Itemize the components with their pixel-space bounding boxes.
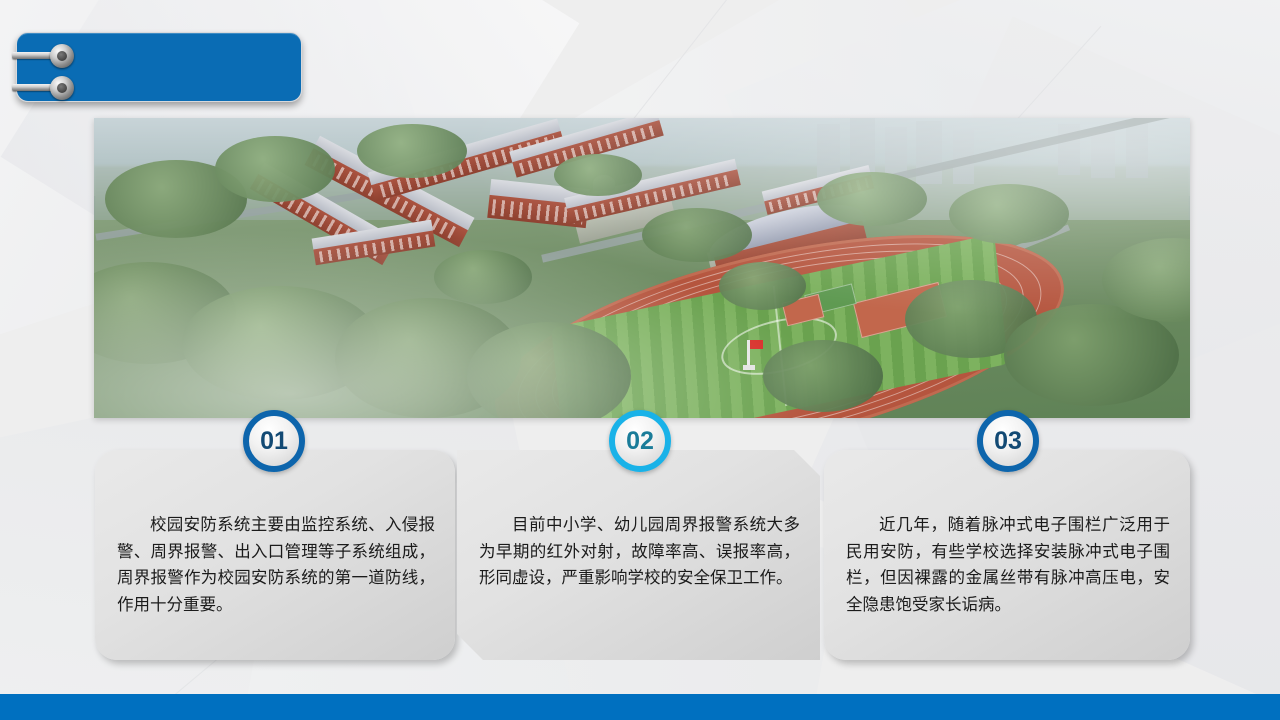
info-card[interactable]: 近几年，随着脉冲式电子围栏广泛用于民用安防，有些学校选择安装脉冲式电子围栏，但因… (824, 450, 1190, 660)
step-number-label: 02 (626, 429, 654, 454)
presentation-slide: 校园安防系统主要由监控系统、入侵报警、周界报警、出入口管理等子系统组成，周界报警… (0, 0, 1280, 720)
footer-bar (0, 694, 1280, 720)
binder-ring-icon (50, 44, 74, 68)
title-banner[interactable] (16, 32, 302, 102)
step-number-badge-01[interactable]: 01 (243, 410, 305, 472)
step-number-label: 01 (260, 429, 288, 454)
slide-title (94, 32, 288, 102)
info-card[interactable]: 目前中小学、幼儿园周界报警系统大多为早期的红外对射，故障率高、误报率高，形同虚设… (457, 450, 820, 660)
info-card-body: 近几年，随着脉冲式电子围栏广泛用于民用安防，有些学校选择安装脉冲式电子围栏，但因… (846, 512, 1170, 619)
school-campus-aerial-image (94, 118, 1190, 418)
step-number-label: 03 (994, 429, 1022, 454)
info-card[interactable]: 校园安防系统主要由监控系统、入侵报警、周界报警、出入口管理等子系统组成，周界报警… (95, 450, 455, 660)
binder-ring-icon (50, 76, 74, 100)
info-card-body: 目前中小学、幼儿园周界报警系统大多为早期的红外对射，故障率高、误报率高，形同虚设… (479, 512, 800, 592)
info-card-body: 校园安防系统主要由监控系统、入侵报警、周界报警、出入口管理等子系统组成，周界报警… (117, 512, 435, 619)
image-atmospheric-haze (94, 118, 1190, 418)
step-number-badge-03[interactable]: 03 (977, 410, 1039, 472)
step-number-badge-02[interactable]: 02 (609, 410, 671, 472)
